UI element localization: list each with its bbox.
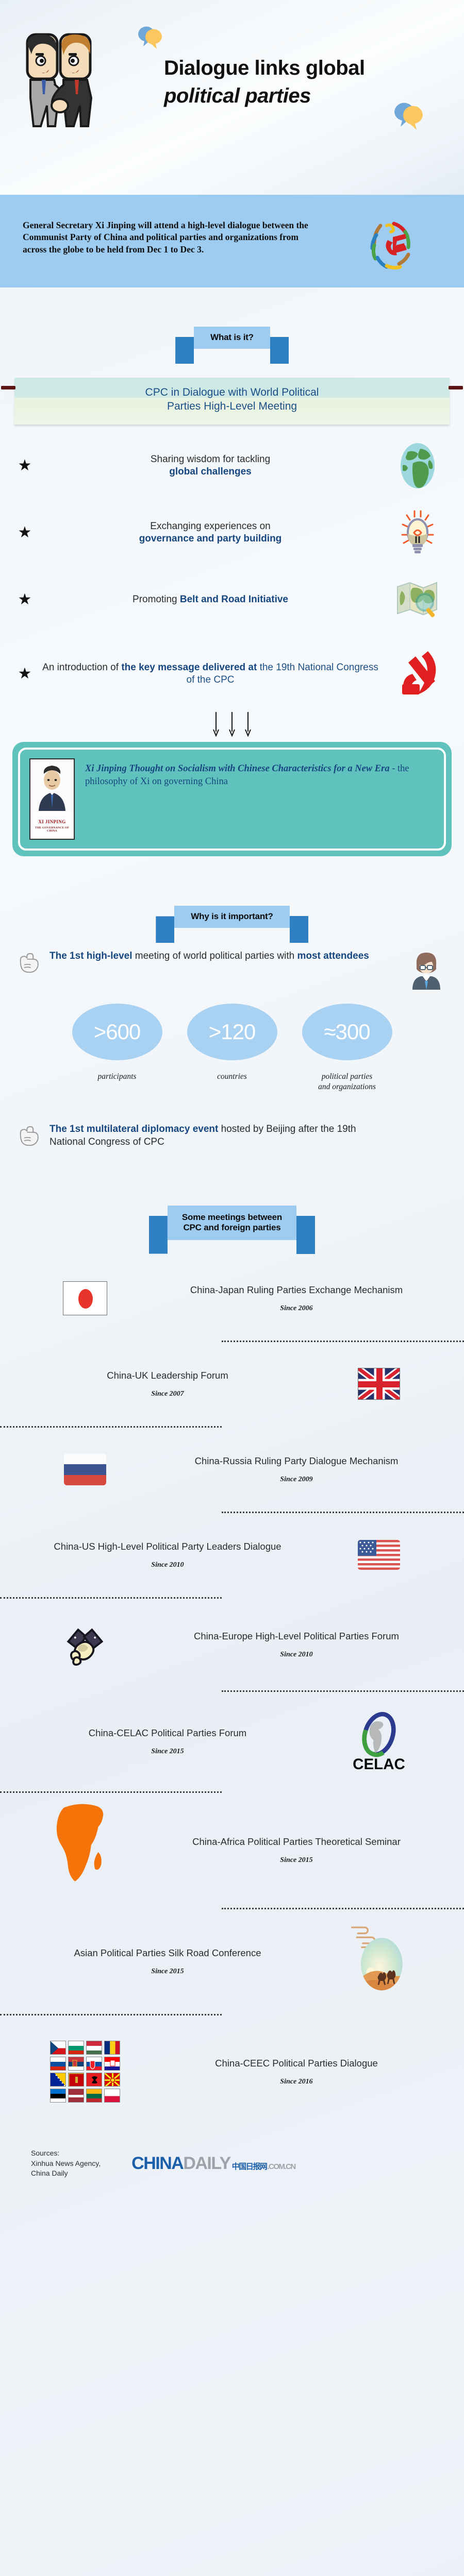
stat-value-political-parties: ≈300 [302,1004,392,1060]
folded-map-magnifier-icon [387,576,449,623]
meeting-row-china-russia: China-Russia Ruling Party Dialogue Mecha… [0,1430,464,1510]
bullet-plain-1: Sharing wisdom for tackling [151,454,270,465]
logo-text-chinese: 中国日报网 [232,2161,267,2172]
ribbon-tail-right [270,337,289,364]
divider-dotted [0,1597,222,1599]
stat-value-participants: >600 [72,1004,162,1060]
bullet-bold-4: the key message delivered at [121,662,257,673]
bullet-bold-3: Belt and Road Initiative [180,594,288,605]
what-is-it-bullet-list: ★ Sharing wisdom for tackling global cha… [0,442,464,705]
why-point-1-plain: meeting of world political parties with [132,951,297,961]
ribbon-tail-left [175,337,194,364]
meetings-list: China-Japan Ruling Parties Exchange Mech… [0,1259,464,2126]
latvia-flag-icon [68,2089,84,2103]
montenegro-flag-icon [68,2073,84,2087]
meeting-since: Since 2015 [24,1748,311,1756]
stat-label-participants: participants [72,1072,162,1082]
hammer-and-sickle-icon [387,650,449,698]
section-ribbon-what-is-it: What is it? [0,327,464,349]
meeting-name-banner: CPC in Dialogue with World Political Par… [14,378,450,425]
lithuania-flag-icon [86,2089,102,2103]
down-arrows-group [0,712,464,737]
czech-flag-icon [50,2041,66,2055]
star-bullet-icon: ★ [15,666,34,682]
meeting-row-silk-road: Asian Political Parties Silk Road Confer… [0,1911,464,2012]
earth-globe-icon [387,442,449,489]
meeting-since: Since 2006 [153,1304,440,1313]
meeting-since: Since 2009 [153,1476,440,1484]
meeting-since: Since 2016 [153,2078,440,2086]
divider-dotted [222,1690,464,1692]
handshake-icon [21,1616,150,1673]
meeting-row-china-us: China-US High-Level Political Party Lead… [0,1515,464,1595]
meeting-info-china-celac: China-CELAC Political Parties Forum Sinc… [21,1727,314,1756]
ribbon-tail-left [149,1216,168,1254]
star-bullet-icon: ★ [15,525,34,540]
xi-thought-text: Xi Jinping Thought on Socialism with Chi… [85,758,435,787]
book-subtitle: THE GOVERNANCE OF CHINA [30,826,74,833]
meeting-info-silk-road: Asian Political Parties Silk Road Confer… [21,1947,314,1976]
meeting-title: China-Japan Ruling Parties Exchange Mech… [153,1284,440,1296]
meeting-title: China-UK Leadership Forum [24,1369,311,1382]
meeting-row-china-europe: China-Europe High-Level Political Partie… [0,1601,464,1688]
section-ribbon-why-important: Why is it important? [0,906,464,928]
ribbon-label-why-important: Why is it important? [191,911,273,922]
meeting-since: Since 2010 [153,1651,440,1659]
arrow-down-icon [212,712,220,737]
cpc-globe-logo-icon [363,214,419,272]
intro-band: General Secretary Xi Jinping will attend… [0,195,464,287]
arrow-down-icon [228,712,236,737]
speech-bubbles-secondary-icon [390,100,426,134]
chinadaily-logo[interactable]: CHINADAILY中国日报网.COM.CN [131,2154,295,2174]
footer-sources: Sources: Xinhua News Agency, China Daily [31,2148,101,2179]
slovakia-flag-icon [86,2057,102,2071]
businesswoman-avatar-icon [410,950,446,992]
divider-dotted [222,1512,464,1513]
pointing-hand-icon [18,1123,44,1149]
macedonia-flag-icon [104,2073,120,2087]
ribbon-label-what-is-it: What is it? [210,332,254,343]
meeting-row-china-africa: China-Africa Political Parties Theoretic… [0,1795,464,1906]
divider-dotted [0,1426,222,1428]
africa-map-icon [21,1799,150,1902]
stat-countries: >120 countries [187,1004,277,1092]
meeting-info-china-us: China-US High-Level Political Party Lead… [21,1540,314,1569]
albania-flag-icon [86,2073,102,2087]
divider-dotted [0,2014,222,2015]
hero-header: Dialogue links global political parties [0,0,464,195]
ribbon-tail-right [290,916,308,943]
bullet-text-belt-and-road: Promoting Belt and Road Initiative [34,594,387,606]
footer: Sources: Xinhua News Agency, China Daily… [0,2126,464,2198]
celac-logo-icon: CELAC [314,1713,443,1770]
logo-text-daily: DAILY [183,2154,230,2174]
bulgaria-flag-icon [68,2041,84,2055]
two-businessmen-handshake-icon [23,28,121,137]
meeting-info-china-uk: China-UK Leadership Forum Since 2007 [21,1369,314,1398]
why-point-first-high-level: The 1st high-level meeting of world poli… [0,950,464,992]
divider-dotted [222,1908,464,1909]
lightbulb-icon [387,509,449,556]
statistics-group: >600 participants >120 countries ≈300 po… [0,1004,464,1092]
estonia-flag-icon [50,2089,66,2103]
star-bullet-icon: ★ [15,458,34,473]
meeting-title: China-CEEC Political Parties Dialogue [153,2057,440,2070]
meeting-since: Since 2015 [24,1968,311,1976]
bullet-plain-4: An introduction of [42,662,121,673]
bullet-text-governance: Exchanging experiences on governance and… [34,520,387,546]
banner-title-line2: Parties High-Level Meeting [26,400,438,414]
intro-paragraph: General Secretary Xi Jinping will attend… [23,219,317,256]
banner-rod-left-icon [1,386,15,389]
meeting-row-china-uk: China-UK Leadership Forum Since 2007 [0,1344,464,1424]
why-point-1-bold-1: The 1st high-level [49,951,132,961]
meeting-row-china-ceec: China-CEEC Political Parties Dialogue Si… [0,2018,464,2126]
bullet-item-belt-and-road: ★ Promoting Belt and Road Initiative [0,576,464,623]
stat-label-countries: countries [187,1072,277,1082]
stat-label-political-parties: political parties and organizations [302,1072,392,1092]
banner-title-line1: CPC in Dialogue with World Political [26,386,438,400]
uk-flag-icon [314,1355,443,1412]
banner-rod-cap-left-icon [1,393,5,399]
banner-rod-cap-right-icon [459,393,463,399]
logo-text-china: CHINA [131,2154,183,2174]
usa-flag-icon [314,1527,443,1583]
bullet-item-governance: ★ Exchanging experiences on governance a… [0,509,464,556]
meeting-info-china-ceec: China-CEEC Political Parties Dialogue Si… [150,2057,443,2086]
meeting-info-china-russia: China-Russia Ruling Party Dialogue Mecha… [150,1455,443,1484]
xi-jinping-book-cover-icon: XI JINPING THE GOVERNANCE OF CHINA [29,758,75,840]
japan-flag-icon [21,1270,150,1327]
xi-jinping-thought-card: XI JINPING THE GOVERNANCE OF CHINA Xi Ji… [12,742,452,856]
meeting-title: China-CELAC Political Parties Forum [24,1727,311,1739]
hungary-flag-icon [86,2041,102,2055]
croatia-flag-icon [104,2057,120,2071]
meeting-since: Since 2010 [24,1561,311,1569]
why-point-2-bold: The 1st multilateral diplomacy event [49,1124,218,1134]
star-bullet-icon: ★ [15,592,34,607]
meeting-info-china-africa: China-Africa Political Parties Theoretic… [150,1836,443,1865]
bullet-text-global-challenges: Sharing wisdom for tackling global chall… [34,453,387,479]
pointing-hand-icon [18,950,44,976]
xi-thought-bold: Xi Jinping Thought on Socialism with Chi… [85,764,390,774]
silk-road-camels-icon [314,1915,443,2008]
poland-flag-icon [104,2089,120,2103]
bullet-bold-2: governance and party building [139,533,282,544]
stat-participants: >600 participants [72,1004,162,1092]
why-point-1-text: The 1st high-level meeting of world poli… [49,950,405,962]
bullet-text-key-message: An introduction of the key message deliv… [34,662,387,687]
stat-value-countries: >120 [187,1004,277,1060]
meeting-since: Since 2015 [153,1856,440,1865]
ceec-flags-grid-icon [21,2025,150,2118]
bosnia-flag-icon [50,2073,66,2087]
section-ribbon-meetings: Some meetings between CPC and foreign pa… [0,1206,464,1240]
ribbon-tail-left [156,916,174,943]
ribbon-label-meetings-line1: Some meetings between [182,1212,282,1223]
why-point-1-bold-2: most attendees [297,951,369,961]
banner-rod-right-icon [449,386,463,389]
why-point-2-text: The 1st multilateral diplomacy event hos… [49,1123,392,1148]
meeting-title: China-Africa Political Parties Theoretic… [153,1836,440,1848]
ribbon-label-meetings-line2: CPC and foreign parties [182,1223,282,1233]
book-title: XI JINPING [30,819,74,824]
meeting-title: Asian Political Parties Silk Road Confer… [24,1947,311,1959]
russia-flag-icon [21,1441,150,1498]
bullet-plain-2: Exchanging experiences on [150,521,270,532]
speech-bubbles-icon [135,25,165,53]
slovenia-flag-icon [50,2057,66,2071]
bullet-item-global-challenges: ★ Sharing wisdom for tackling global cha… [0,442,464,489]
why-point-multilateral-event: The 1st multilateral diplomacy event hos… [0,1123,464,1149]
meeting-row-china-celac: CELAC China-CELAC Political Parties Foru… [0,1694,464,1789]
bullet-bold-1: global challenges [169,466,251,477]
svg-text:CELAC: CELAC [353,1756,405,1772]
bullet-item-key-message: ★ An introduction of the key message del… [0,643,464,705]
infographic-page: Dialogue links global political parties … [0,0,464,2576]
ribbon-tail-right [296,1216,315,1254]
meeting-info-china-japan: China-Japan Ruling Parties Exchange Mech… [150,1284,443,1313]
stat-political-parties: ≈300 political parties and organizations [302,1004,392,1092]
romania-flag-icon [104,2041,120,2055]
divider-dotted [0,1791,222,1793]
meeting-title: China-Europe High-Level Political Partie… [153,1630,440,1642]
meeting-row-china-japan: China-Japan Ruling Parties Exchange Mech… [0,1259,464,1338]
arrow-down-icon [244,712,252,737]
serbia-flag-icon [68,2057,84,2071]
meeting-title: China-Russia Ruling Party Dialogue Mecha… [153,1455,440,1467]
meeting-since: Since 2007 [24,1390,311,1398]
divider-dotted [222,1341,464,1342]
bullet-plain-3: Promoting [132,594,180,605]
logo-text-domain: .COM.CN [267,2162,295,2171]
page-title-line1: Dialogue links global [164,57,442,80]
meeting-info-china-europe: China-Europe High-Level Political Partie… [150,1630,443,1659]
meeting-title: China-US High-Level Political Party Lead… [24,1540,311,1553]
